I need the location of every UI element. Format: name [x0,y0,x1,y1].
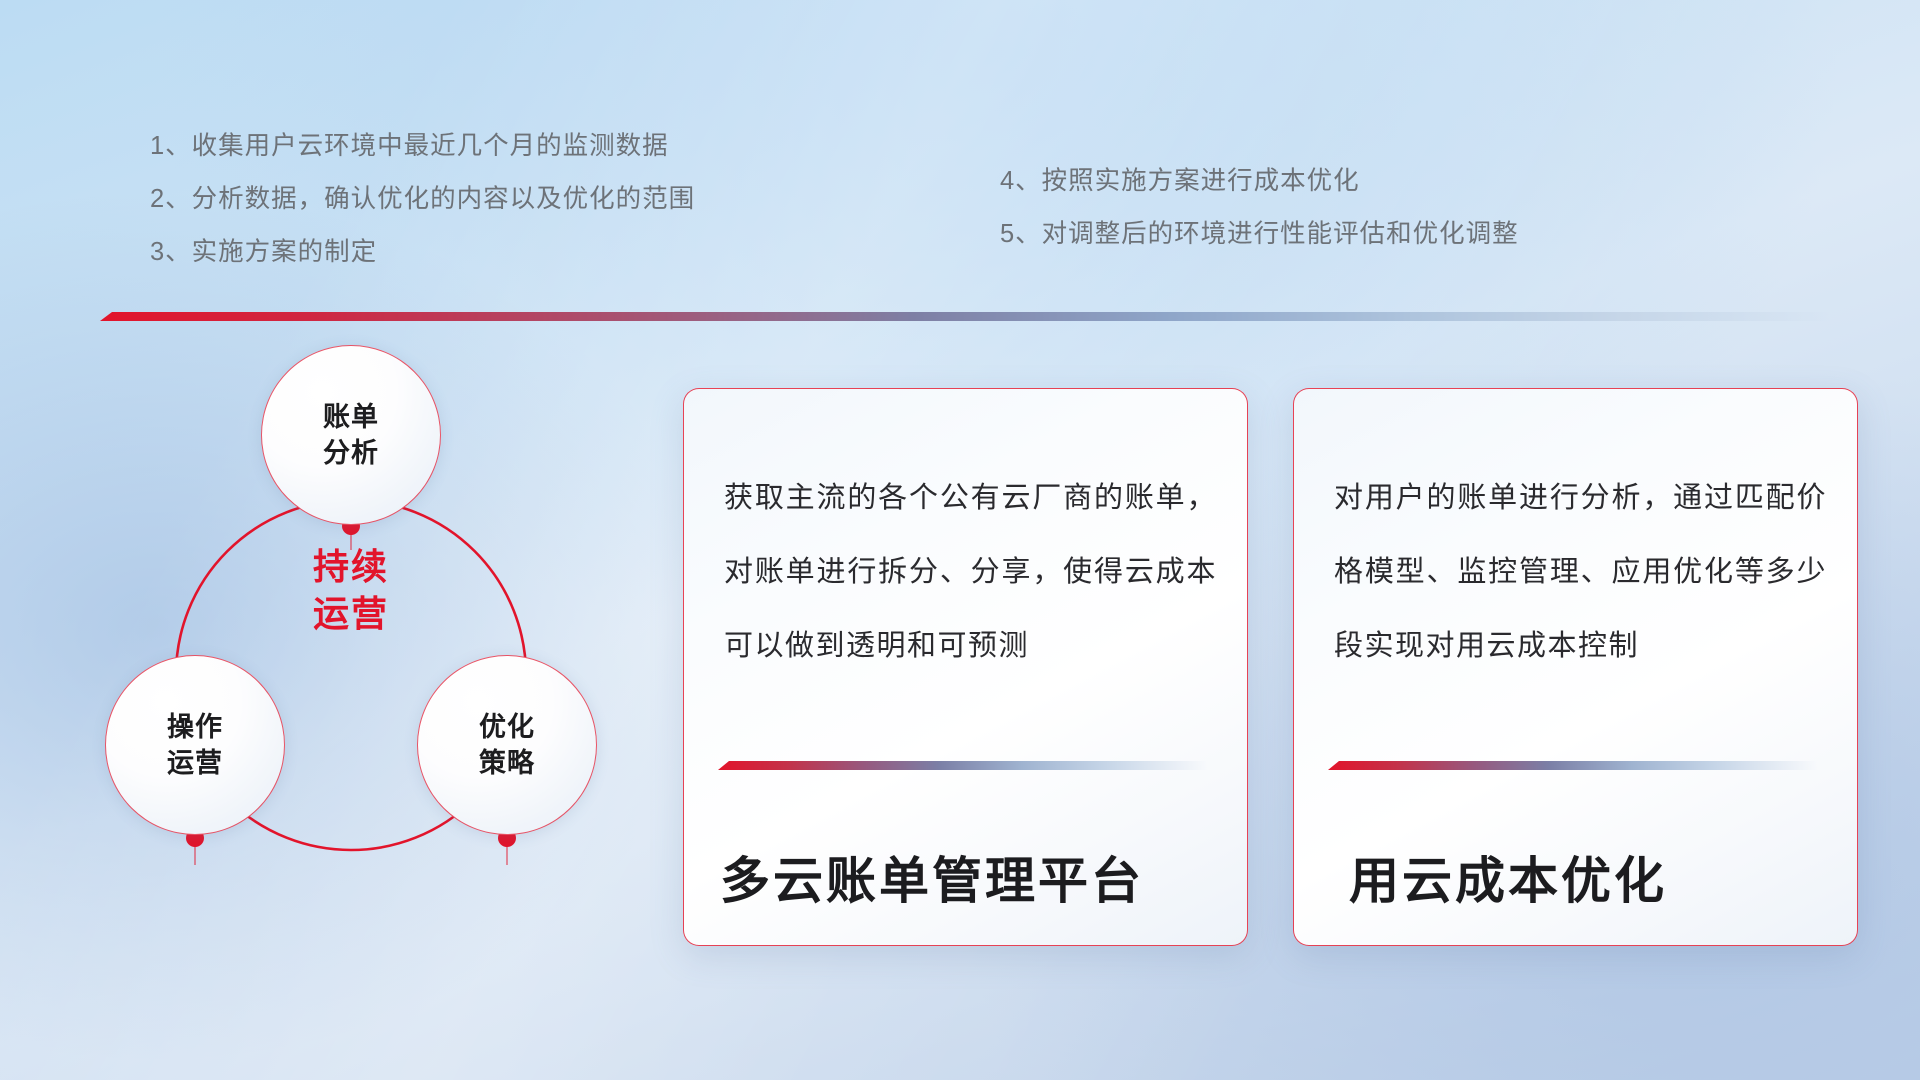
feature-card-title: 用云成本优化 [1349,841,1833,913]
process-steps-right-column: 4、按照实施方案进行成本优化 5、对调整后的环境进行性能评估和优化调整 [1000,155,1519,261]
venn-center-label-line2: 运营 [313,593,389,634]
venn-lobe-label-line1: 优化 [479,712,535,742]
venn-lobe-billing-analysis[interactable]: 账单 分析 [261,345,441,525]
venn-center-label-line1: 持续 [313,546,389,587]
venn-lobe-operations[interactable]: 操作 运营 [105,655,285,835]
feature-card-cloud-cost-optimization[interactable]: 对用户的账单进行分析，通过匹配价格模型、监控管理、应用优化等多少段实现对用云成本… [1293,388,1858,946]
feature-card-multicloud-billing[interactable]: 获取主流的各个公有云厂商的账单，对账单进行拆分、分享，使得云成本可以做到透明和可… [683,388,1248,946]
venn-lobe-label: 优化 策略 [479,709,535,781]
continuous-operation-diagram: 账单 分析 操作 运营 优化 策略 持续 运营 [95,345,655,960]
process-step-item: 4、按照实施方案进行成本优化 [1000,155,1519,208]
venn-lobe-label: 账单 分析 [323,399,379,471]
process-step-item: 1、收集用户云环境中最近几个月的监测数据 [150,120,695,173]
venn-lobe-label-line2: 分析 [323,438,379,468]
process-step-item: 2、分析数据，确认优化的内容以及优化的范围 [150,173,695,226]
process-step-item: 3、实施方案的制定 [150,226,695,279]
feature-card-description: 获取主流的各个公有云厂商的账单，对账单进行拆分、分享，使得云成本可以做到透明和可… [724,461,1217,683]
venn-lobe-label-line1: 账单 [323,402,379,432]
feature-card-divider-bar [718,761,1208,770]
venn-lobe-label-line2: 运营 [167,748,223,778]
venn-center-label: 持续 运营 [231,530,471,650]
section-divider-bar [100,312,1830,321]
feature-card-title: 多云账单管理平台 [720,841,1223,913]
feature-card-divider-bar [1328,761,1818,770]
process-step-item: 5、对调整后的环境进行性能评估和优化调整 [1000,208,1519,261]
feature-card-description: 对用户的账单进行分析，通过匹配价格模型、监控管理、应用优化等多少段实现对用云成本… [1334,461,1827,683]
venn-lobe-label-line1: 操作 [167,712,223,742]
venn-lobe-optimization-policy[interactable]: 优化 策略 [417,655,597,835]
slide-canvas: 1、收集用户云环境中最近几个月的监测数据 2、分析数据，确认优化的内容以及优化的… [0,0,1920,1080]
venn-lobe-label: 操作 运营 [167,709,223,781]
venn-lobe-label-line2: 策略 [479,748,535,778]
process-steps-left-column: 1、收集用户云环境中最近几个月的监测数据 2、分析数据，确认优化的内容以及优化的… [150,120,695,279]
